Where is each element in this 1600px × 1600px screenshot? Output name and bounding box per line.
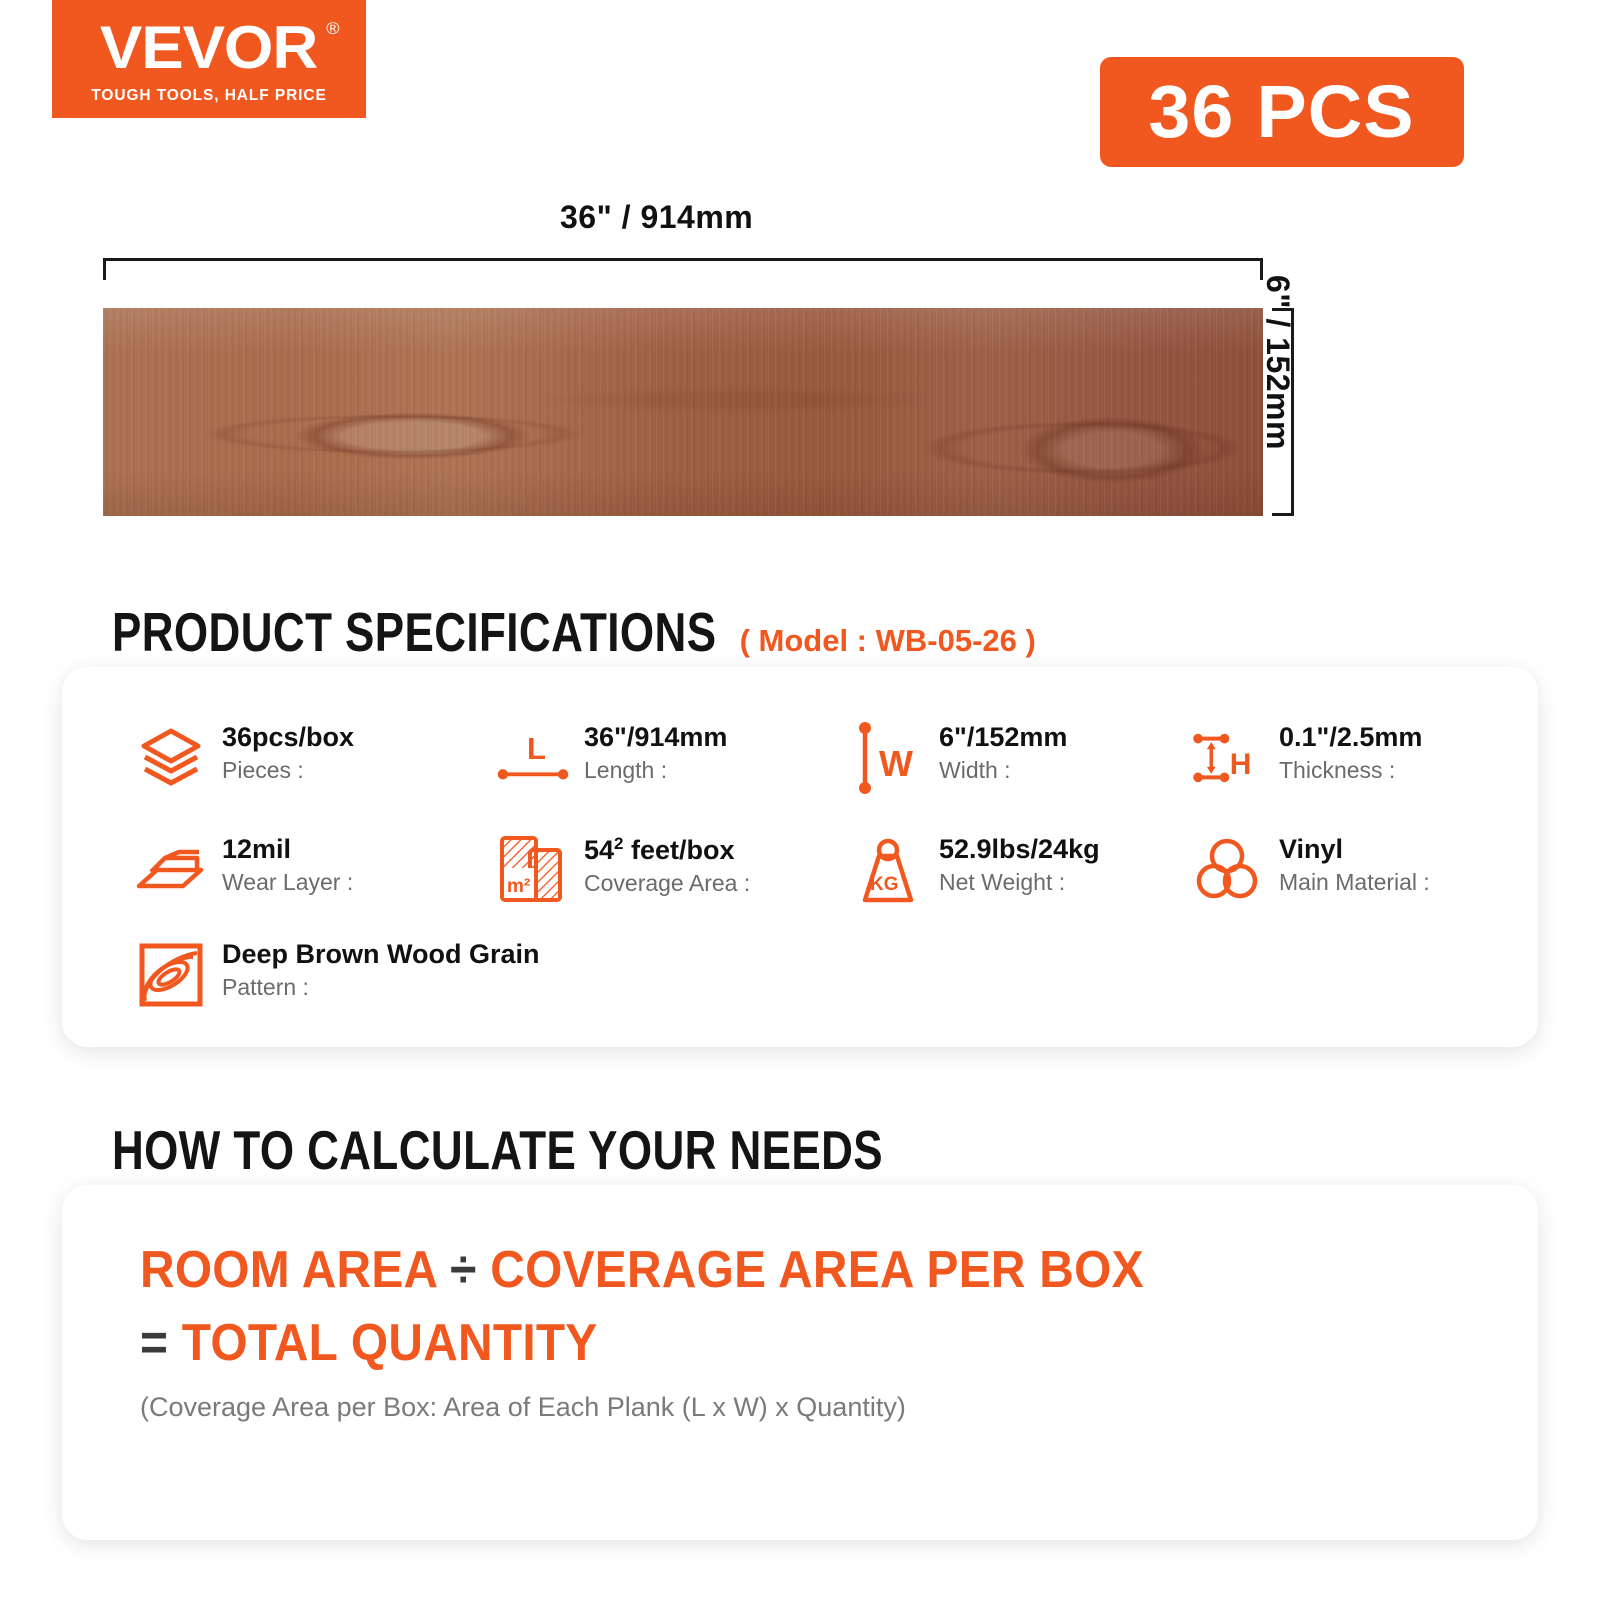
specifications-row: 36pcs/box Pieces : L 36"/914mm Length : <box>134 722 1538 834</box>
spec-pieces-label: Pieces : <box>222 756 354 786</box>
calculation-card: ROOM AREA ÷ COVERAGE AREA PER BOX = TOTA… <box>62 1185 1538 1540</box>
spec-pieces: 36pcs/box Pieces : <box>134 722 496 834</box>
wood-grain-icon <box>134 939 208 1011</box>
spec-wear-layer-value: 12mil <box>222 834 353 865</box>
calculate-heading: HOW TO CALCULATE YOUR NEEDS <box>112 1118 1076 1182</box>
width-arrow-icon: W <box>851 722 925 794</box>
specifications-row: Deep Brown Wood Grain Pattern : <box>134 939 1538 1011</box>
spec-length: L 36"/914mm Length : <box>496 722 851 834</box>
spec-pattern-value: Deep Brown Wood Grain <box>222 939 540 970</box>
vevor-logo: VEVOR ® TOUGH TOOLS, HALF PRICE <box>52 0 366 118</box>
svg-text:KG: KG <box>870 874 899 895</box>
svg-text:L: L <box>527 731 546 766</box>
logo-text: VEVOR <box>100 14 317 81</box>
width-dimension-label: 6" / 152mm <box>1259 275 1296 535</box>
svg-text:m²: m² <box>507 876 530 897</box>
spec-wear-layer: 12mil Wear Layer : <box>134 834 496 939</box>
svg-text:W: W <box>879 743 913 784</box>
spec-thickness-label: Thickness : <box>1279 756 1422 786</box>
logo-wordmark: VEVOR ® <box>100 18 317 78</box>
specifications-heading: PRODUCT SPECIFICATIONS ( Model : WB-05-2… <box>112 600 1036 664</box>
coverage-number: 54 <box>584 835 614 865</box>
wear-layer-icon <box>134 834 208 906</box>
spec-main-material: Vinyl Main Material : <box>1191 834 1531 939</box>
spec-net-weight-label: Net Weight : <box>939 868 1100 898</box>
spec-width: W 6"/152mm Width : <box>851 722 1191 834</box>
specifications-heading-text: PRODUCT SPECIFICATIONS <box>112 600 716 664</box>
spec-length-value: 36"/914mm <box>584 722 727 753</box>
material-circles-icon <box>1191 834 1265 906</box>
registered-mark-icon: ® <box>327 20 339 37</box>
formula-room-area: ROOM AREA <box>140 1241 437 1299</box>
spec-pieces-text: 36pcs/box Pieces : <box>222 722 354 786</box>
spec-length-text: 36"/914mm Length : <box>584 722 727 786</box>
spec-main-material-text: Vinyl Main Material : <box>1279 834 1430 898</box>
spec-thickness: H 0.1"/2.5mm Thickness : <box>1191 722 1531 834</box>
formula-note: (Coverage Area per Box: Area of Each Pla… <box>140 1392 906 1423</box>
weight-kg-icon: KG <box>851 834 925 906</box>
model-number: ( Model : WB-05-26 ) <box>740 623 1036 659</box>
specifications-grid: 36pcs/box Pieces : L 36"/914mm Length : <box>62 667 1538 1047</box>
spec-width-label: Width : <box>939 756 1067 786</box>
coverage-exponent: 2 <box>614 834 623 853</box>
equals-operator-icon: = <box>140 1314 168 1372</box>
spec-net-weight-text: 52.9lbs/24kg Net Weight : <box>939 834 1100 898</box>
formula-coverage-per-box: COVERAGE AREA PER BOX <box>490 1241 1144 1299</box>
length-dimension-label: 36" / 914mm <box>560 199 753 236</box>
spec-coverage-area-text: 542 feet/box Coverage Area : <box>584 834 750 899</box>
svg-text:H: H <box>1230 748 1252 781</box>
divide-operator-icon: ÷ <box>450 1241 477 1299</box>
specifications-row: 12mil Wear Layer : m² <box>134 834 1538 939</box>
spec-thickness-text: 0.1"/2.5mm Thickness : <box>1279 722 1422 786</box>
spec-coverage-area: m² 542 feet/box Coverage Area : <box>496 834 851 939</box>
area-tiles-icon: m² <box>496 834 570 906</box>
length-dimension-bracket <box>103 258 1263 280</box>
coverage-unit: feet/box <box>624 835 735 865</box>
formula-line-two: = TOTAL QUANTITY <box>140 1313 598 1373</box>
spec-width-text: 6"/152mm Width : <box>939 722 1067 786</box>
spec-pieces-value: 36pcs/box <box>222 722 354 753</box>
spec-length-label: Length : <box>584 756 727 786</box>
spec-pattern-text: Deep Brown Wood Grain Pattern : <box>222 939 540 1003</box>
product-plank-image <box>103 308 1263 516</box>
logo-tagline: TOUGH TOOLS, HALF PRICE <box>91 87 326 105</box>
length-arrow-icon: L <box>496 722 570 794</box>
calculate-heading-text: HOW TO CALCULATE YOUR NEEDS <box>112 1118 883 1182</box>
stacked-layers-icon <box>134 722 208 794</box>
specifications-card: 36pcs/box Pieces : L 36"/914mm Length : <box>62 667 1538 1047</box>
formula-line-one: ROOM AREA ÷ COVERAGE AREA PER BOX <box>140 1240 1144 1300</box>
quantity-badge: 36 PCS <box>1100 57 1464 167</box>
formula-total-quantity: TOTAL QUANTITY <box>182 1314 598 1372</box>
spec-pattern: Deep Brown Wood Grain Pattern : <box>134 939 834 1011</box>
spec-coverage-area-value: 542 feet/box <box>584 834 750 866</box>
spec-main-material-value: Vinyl <box>1279 834 1430 865</box>
quantity-badge-label: 36 PCS <box>1149 75 1415 149</box>
spec-wear-layer-label: Wear Layer : <box>222 868 353 898</box>
spec-net-weight-value: 52.9lbs/24kg <box>939 834 1100 865</box>
thickness-arrow-icon: H <box>1191 722 1265 794</box>
spec-pattern-label: Pattern : <box>222 973 540 1003</box>
spec-net-weight: KG 52.9lbs/24kg Net Weight : <box>851 834 1191 939</box>
spec-coverage-area-label: Coverage Area : <box>584 869 750 899</box>
spec-wear-layer-text: 12mil Wear Layer : <box>222 834 353 898</box>
spec-main-material-label: Main Material : <box>1279 868 1430 898</box>
spec-width-value: 6"/152mm <box>939 722 1067 753</box>
spec-thickness-value: 0.1"/2.5mm <box>1279 722 1422 753</box>
